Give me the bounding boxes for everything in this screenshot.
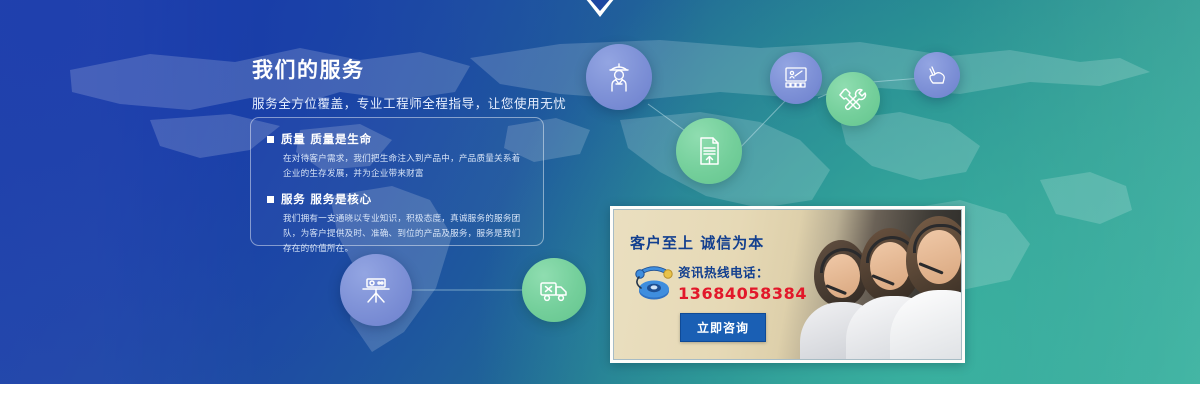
engineer-worker-icon — [602, 60, 636, 94]
node-training-presentation[interactable] — [770, 52, 822, 104]
chevron-down-icon — [568, 0, 632, 25]
node-tools[interactable] — [826, 72, 880, 126]
survey-tripod-icon — [358, 272, 394, 308]
service-copy: 我们的服务 服务全方位覆盖，专业工程师全程指导，让您使用无忧 — [252, 58, 552, 112]
node-hand-gesture[interactable] — [914, 52, 960, 98]
document-upload-icon — [693, 135, 725, 167]
node-engineer-worker[interactable] — [586, 44, 652, 110]
feature-item: 质量 质量是生命 在对待客户需求，我们把生命注入到产品中，产品质量关系着企业的生… — [267, 131, 527, 182]
contact-banner[interactable]: 客户至上 诚信为本 — [610, 206, 965, 363]
feature-title: 服务 服务是核心 — [281, 191, 372, 207]
service-section: 我们的服务 服务全方位覆盖，专业工程师全程指导，让您使用无忧 质量 质量是生命 … — [0, 0, 1200, 400]
gradient-background: 我们的服务 服务全方位覆盖，专业工程师全程指导，让您使用无忧 质量 质量是生命 … — [0, 0, 1200, 384]
square-bullet-icon — [267, 196, 274, 203]
contact-copy: 客户至上 诚信为本 — [630, 232, 830, 342]
hotline-label: 资讯热线电话： — [678, 265, 769, 280]
page-subtitle: 服务全方位覆盖，专业工程师全程指导，让您使用无忧 — [252, 93, 552, 112]
hand-gesture-icon — [925, 63, 949, 87]
consult-now-button[interactable]: 立即咨询 — [680, 313, 766, 342]
feature-heading: 质量 质量是生命 — [267, 131, 527, 147]
square-bullet-icon — [267, 136, 274, 143]
banner-slogan: 客户至上 诚信为本 — [630, 232, 830, 253]
hotline-number: 13684058384 — [678, 284, 807, 303]
telephone-icon — [630, 263, 676, 303]
node-survey-tripod[interactable] — [340, 254, 412, 326]
page-title: 我们的服务 — [252, 58, 552, 83]
features-panel: 质量 质量是生命 在对待客户需求，我们把生命注入到产品中，产品质量关系着企业的生… — [250, 117, 544, 246]
node-delivery-truck[interactable] — [522, 258, 586, 322]
feature-item: 服务 服务是核心 我们拥有一支通晓以专业知识，积极态度，真诚服务的服务团队，为客… — [267, 191, 527, 257]
feature-heading: 服务 服务是核心 — [267, 191, 527, 207]
tools-wrench-hammer-icon — [839, 85, 867, 113]
node-document-upload[interactable] — [676, 118, 742, 184]
feature-title: 质量 质量是生命 — [281, 131, 372, 147]
feature-body: 在对待客户需求，我们把生命注入到产品中，产品质量关系着企业的生存发展，并为企业带… — [267, 152, 527, 182]
hotline-text: 资讯热线电话： 13684058384 — [678, 262, 807, 303]
contact-banner-inner: 客户至上 诚信为本 — [613, 209, 962, 360]
training-presentation-icon — [782, 64, 810, 92]
feature-body: 我们拥有一支通晓以专业知识，积极态度，真诚服务的服务团队，为客户提供及时、准确、… — [267, 212, 527, 257]
hotline-row: 资讯热线电话： 13684058384 — [630, 262, 830, 303]
delivery-truck-icon — [538, 274, 570, 306]
